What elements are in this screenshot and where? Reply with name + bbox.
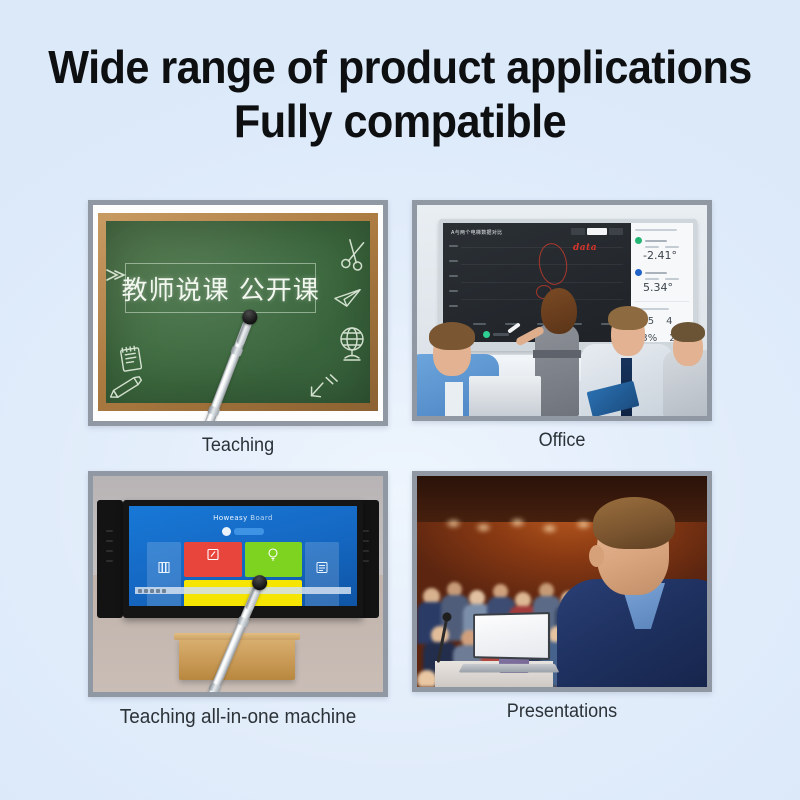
chalkboard-text: 教师说课 公开课: [128, 264, 314, 312]
status-dot-blue: [635, 269, 642, 276]
notebook-icon: [115, 343, 147, 375]
tile-green-idea[interactable]: [245, 542, 303, 577]
application-card-office[interactable]: A与两个电梯数据对比: [412, 200, 712, 457]
card-image-frame: [412, 471, 712, 692]
pen-edit-icon: [206, 547, 220, 566]
application-card-presentations[interactable]: Presentations: [412, 471, 712, 729]
status-dot-green: [635, 237, 642, 244]
page-title: Wide range of product applications Fully…: [0, 0, 800, 148]
card-caption: Teaching: [96, 435, 381, 457]
avatar: [222, 527, 231, 536]
auditorium-photo: [417, 476, 707, 687]
application-card-teaching-all-in-one[interactable]: Howeasy Board: [88, 471, 388, 729]
segment-option-2-selected[interactable]: [587, 228, 607, 235]
stats-heading: [635, 229, 677, 231]
dashboard-segmented-control[interactable]: [571, 228, 623, 235]
speaker-ear: [589, 545, 604, 567]
speaker-hair: [593, 497, 675, 549]
tile-blue-right[interactable]: [305, 542, 339, 606]
application-card-teaching[interactable]: 教师说课 公开课: [88, 200, 388, 457]
laptop-screen: [473, 612, 550, 660]
card-image-frame: A与两个电梯数据对比: [412, 200, 712, 421]
card-image-frame: 教师说课 公开课: [88, 200, 388, 426]
stat-row-green: [635, 237, 689, 244]
panel-home-screen: Howeasy Board: [129, 506, 357, 606]
application-cards-grid: 教师说课 公开课: [0, 200, 800, 729]
page-title-line-1: Wide range of product applications: [24, 40, 776, 94]
office-meeting-photo: A与两个电梯数据对比: [417, 205, 707, 416]
speaker-left: [97, 500, 123, 618]
document-icon: [315, 560, 329, 579]
chevron-arrow-icon: [105, 267, 127, 283]
panel-taskbar[interactable]: [135, 587, 351, 594]
speaker-man: [563, 501, 707, 687]
user-name-pill: [234, 528, 264, 535]
attendee-far-right: [663, 320, 707, 416]
tile-blue-left[interactable]: [147, 542, 181, 606]
segment-option-3[interactable]: [609, 228, 623, 235]
lightbulb-icon: [267, 547, 280, 566]
books-icon: [157, 560, 171, 579]
segment-option-1[interactable]: [571, 228, 585, 235]
page-title-line-2: Fully compatible: [24, 94, 776, 148]
laptop-keyboard: [459, 664, 560, 673]
tile-red-whiteboard[interactable]: [184, 542, 242, 577]
dashboard-title: A与两个电梯数据对比: [451, 229, 502, 236]
card-caption: Teaching all-in-one machine: [96, 706, 381, 729]
brand-name-light: Board: [250, 514, 273, 522]
center-tiles: [184, 542, 302, 606]
data-annotation-label: data: [573, 243, 597, 253]
app-tiles: [147, 542, 339, 606]
user-chip[interactable]: [222, 527, 264, 536]
laptop: [461, 615, 557, 677]
stat-value-2: 5.34°: [643, 281, 689, 294]
attendee-right: [581, 308, 673, 416]
card-caption: Presentations: [420, 701, 705, 723]
classroom-panel-photo: Howeasy Board: [93, 476, 383, 692]
card-caption: Office: [420, 430, 705, 452]
card-image-frame: Howeasy Board: [88, 471, 388, 697]
globe-icon: [335, 325, 369, 363]
laptop: [469, 376, 541, 416]
paper-plane-icon: [332, 287, 364, 309]
brand-name-bold: Howeasy: [213, 514, 247, 522]
chalkboard-photo: 教师说课 公开课: [93, 205, 383, 421]
chart-y-axis-labels: [449, 245, 458, 320]
brand-title: Howeasy Board: [129, 514, 357, 522]
stat-value-1: -2.41°: [643, 249, 689, 262]
stat-row-blue: [635, 269, 689, 276]
